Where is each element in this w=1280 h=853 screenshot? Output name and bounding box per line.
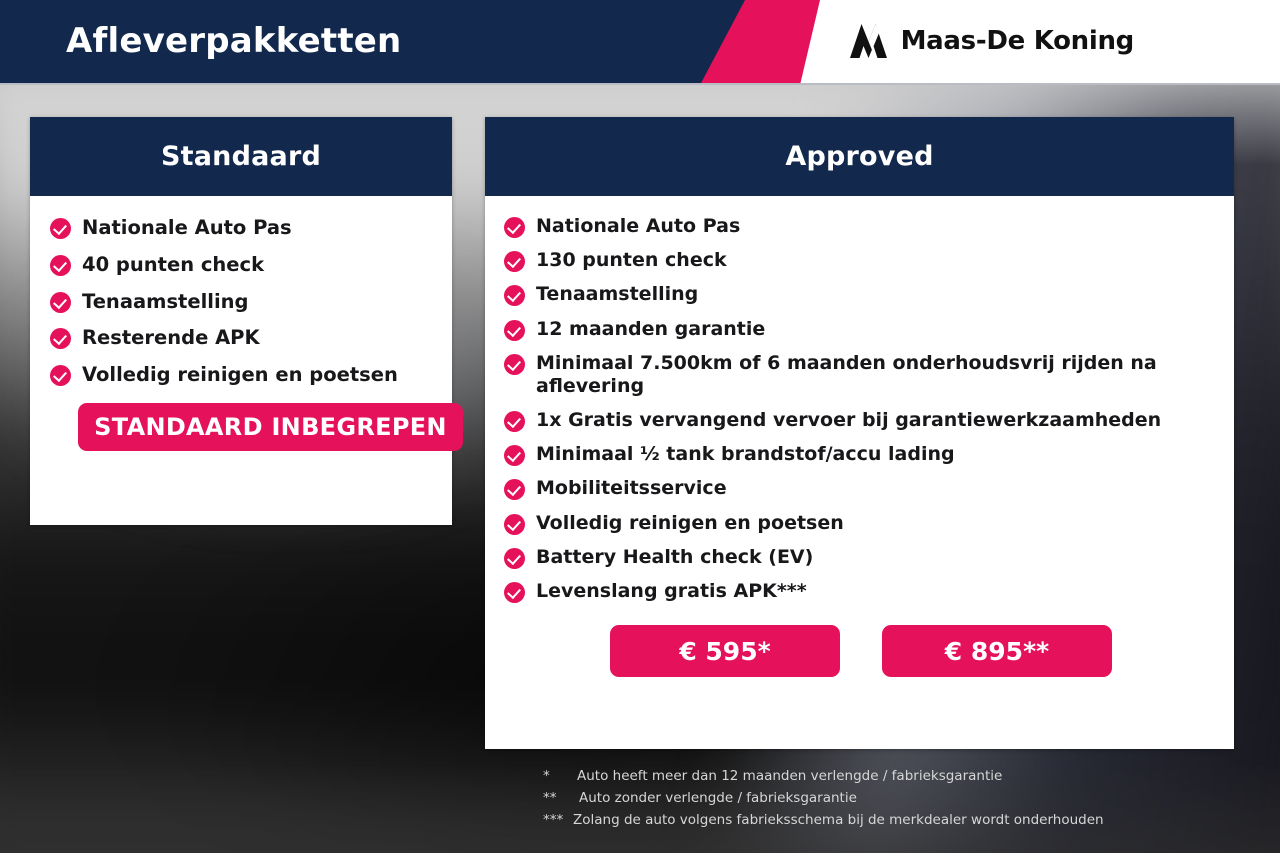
list-item: Volledig reinigen en poetsen (504, 512, 1218, 535)
check-circle-icon (50, 218, 71, 239)
check-circle-icon (504, 582, 525, 603)
footnote-marker: *** (543, 810, 573, 832)
price-button-895[interactable]: € 895** (882, 625, 1112, 677)
list-item: Tenaamstelling (504, 283, 1218, 306)
card-header-standaard: Standaard (30, 117, 452, 196)
package-card-standaard: Standaard Nationale Auto Pas 40 punten c… (30, 117, 452, 525)
feature-label: Nationale Auto Pas (82, 216, 292, 240)
page-header: Afleverpakketten Maas-De Koning (0, 0, 1280, 85)
feature-label: Resterende APK (82, 326, 260, 350)
feature-label: Mobiliteitsservice (536, 477, 727, 500)
feature-label: 40 punten check (82, 253, 264, 277)
check-circle-icon (504, 217, 525, 238)
list-item: 130 punten check (504, 249, 1218, 272)
list-item: Levenslang gratis APK*** (504, 580, 1218, 603)
list-item: Minimaal ½ tank brandstof/accu lading (504, 443, 1218, 466)
feature-label: Volledig reinigen en poetsen (536, 512, 844, 535)
list-item: Nationale Auto Pas (504, 215, 1218, 238)
check-circle-icon (50, 328, 71, 349)
list-item: Nationale Auto Pas (50, 216, 434, 240)
feature-label: Tenaamstelling (82, 290, 249, 314)
footnotes: * Auto heeft meer dan 12 maanden verleng… (543, 766, 1104, 832)
list-item: Minimaal 7.500km of 6 maanden onderhouds… (504, 352, 1218, 398)
card-header-approved: Approved (485, 117, 1234, 196)
footnote-2: ** Auto zonder verlengde / fabrieksgaran… (543, 788, 1104, 810)
list-item: Mobiliteitsservice (504, 477, 1218, 500)
list-item: 40 punten check (50, 253, 434, 277)
check-circle-icon (504, 285, 525, 306)
list-item: Volledig reinigen en poetsen (50, 363, 434, 387)
feature-label: Nationale Auto Pas (536, 215, 740, 238)
check-circle-icon (504, 479, 525, 500)
list-item: Resterende APK (50, 326, 434, 350)
feature-label: Minimaal 7.500km of 6 maanden onderhouds… (536, 352, 1218, 398)
list-item: 12 maanden garantie (504, 318, 1218, 341)
check-circle-icon (504, 445, 525, 466)
maas-de-koning-m-mark-icon (848, 22, 888, 60)
check-circle-icon (504, 320, 525, 341)
card-title-standaard: Standaard (161, 141, 321, 172)
check-circle-icon (50, 255, 71, 276)
list-item: Battery Health check (EV) (504, 546, 1218, 569)
package-card-approved: Approved Nationale Auto Pas 130 punten c… (485, 117, 1234, 749)
card-body-approved: Nationale Auto Pas 130 punten check Tena… (485, 196, 1234, 677)
check-circle-icon (50, 365, 71, 386)
header-divider (0, 83, 1280, 85)
list-item: 1x Gratis vervangend vervoer bij garanti… (504, 409, 1218, 432)
card-title-approved: Approved (785, 141, 933, 172)
standaard-inbegrepen-button[interactable]: STANDAARD INBEGREPEN (78, 403, 463, 451)
check-circle-icon (504, 251, 525, 272)
feature-label: Tenaamstelling (536, 283, 698, 306)
footnote-text: Zolang de auto volgens fabrieksschema bi… (573, 810, 1104, 832)
feature-list-approved: Nationale Auto Pas 130 punten check Tena… (504, 215, 1218, 603)
footnote-text: Auto heeft meer dan 12 maanden verlengde… (577, 766, 1002, 788)
footnote-text: Auto zonder verlengde / fabrieksgarantie (579, 788, 857, 810)
check-circle-icon (504, 548, 525, 569)
page-title: Afleverpakketten (66, 21, 401, 61)
feature-list-standaard: Nationale Auto Pas 40 punten check Tenaa… (50, 216, 434, 387)
footnote-3: *** Zolang de auto volgens fabrieksschem… (543, 810, 1104, 832)
feature-label: Battery Health check (EV) (536, 546, 813, 569)
price-button-595[interactable]: € 595* (610, 625, 840, 677)
feature-label: Volledig reinigen en poetsen (82, 363, 398, 387)
brand-name: Maas-De Koning (901, 26, 1134, 56)
check-circle-icon (504, 411, 525, 432)
feature-label: Levenslang gratis APK*** (536, 580, 807, 603)
feature-label: 1x Gratis vervangend vervoer bij garanti… (536, 409, 1161, 432)
card-body-standaard: Nationale Auto Pas 40 punten check Tenaa… (30, 196, 452, 451)
feature-label: 12 maanden garantie (536, 318, 765, 341)
footnote-marker: * (543, 766, 577, 788)
price-button-row: € 595* € 895** (504, 625, 1218, 677)
check-circle-icon (504, 354, 525, 375)
feature-label: Minimaal ½ tank brandstof/accu lading (536, 443, 955, 466)
footnote-1: * Auto heeft meer dan 12 maanden verleng… (543, 766, 1104, 788)
brand-logo: Maas-De Koning (848, 22, 1134, 60)
list-item: Tenaamstelling (50, 290, 434, 314)
feature-label: 130 punten check (536, 249, 727, 272)
check-circle-icon (504, 514, 525, 535)
footnote-marker: ** (543, 788, 579, 810)
check-circle-icon (50, 292, 71, 313)
